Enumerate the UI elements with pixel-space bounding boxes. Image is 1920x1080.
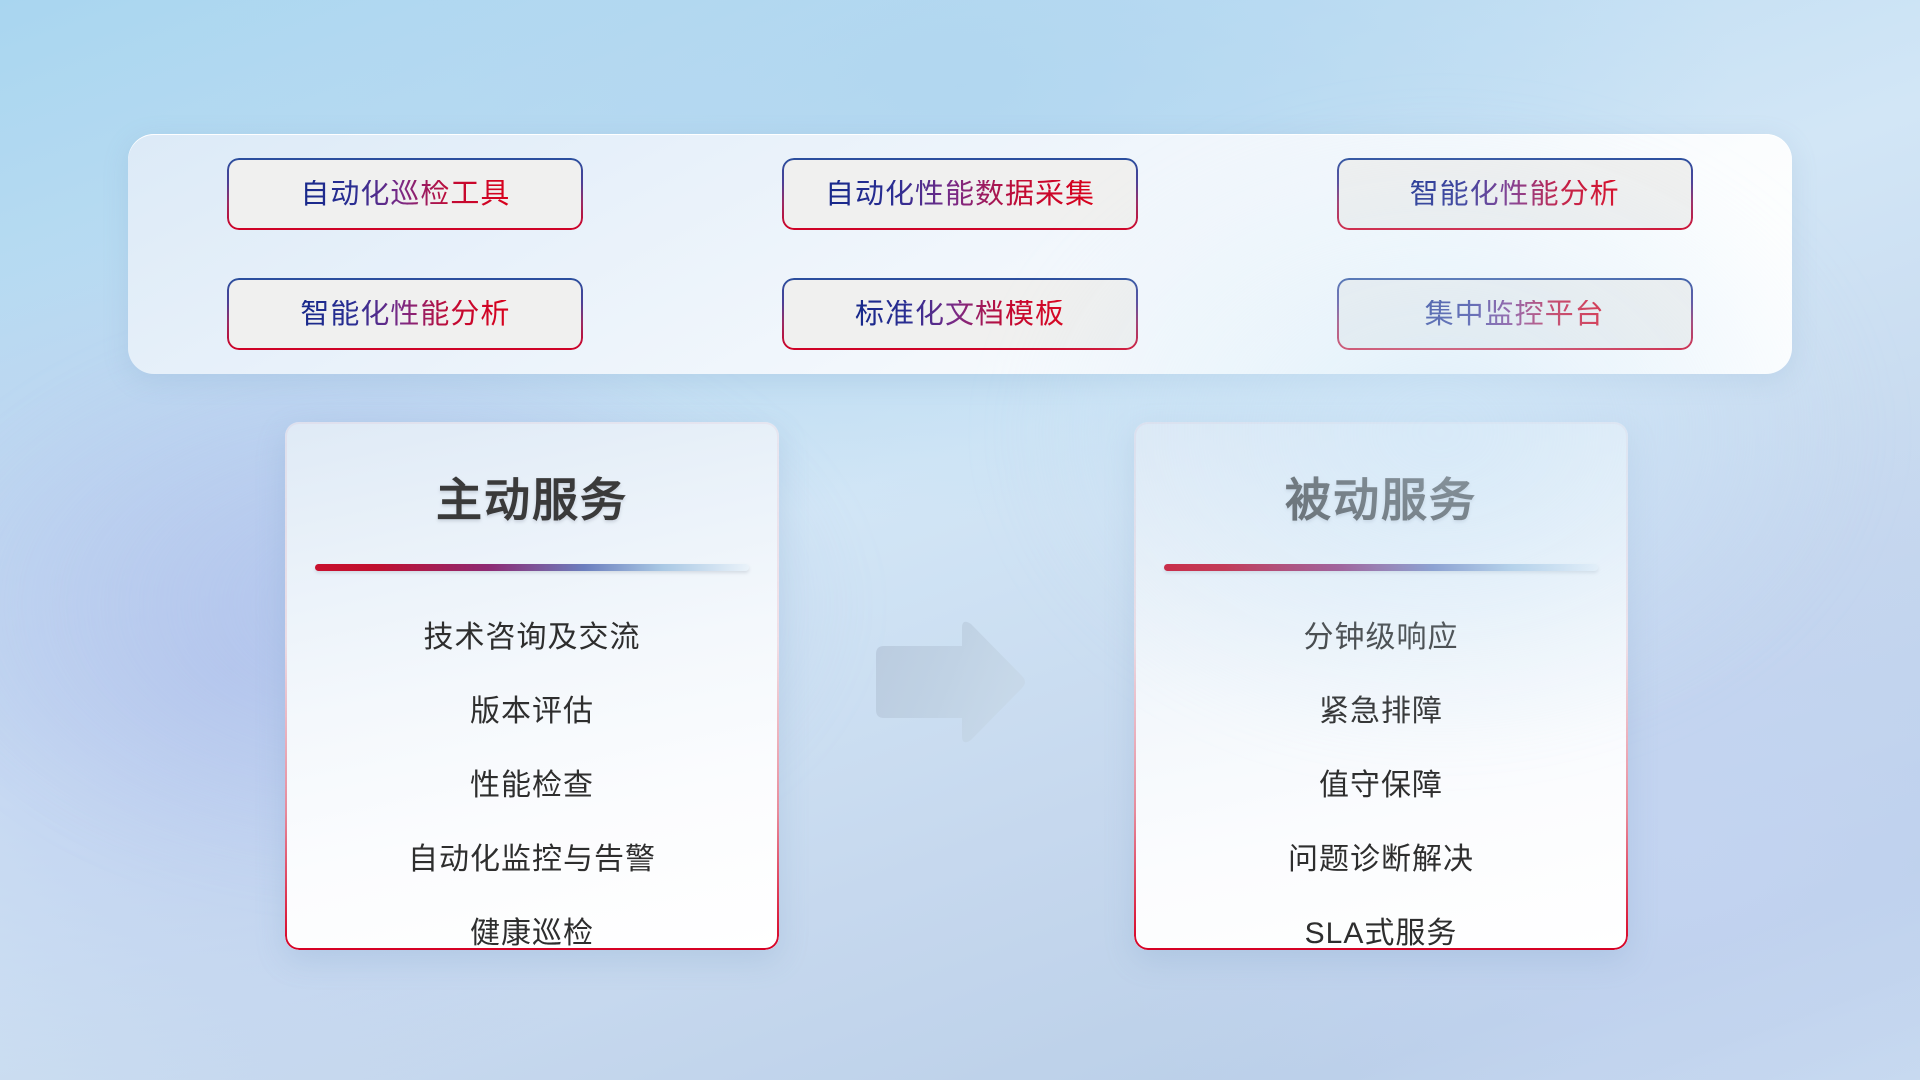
service-list-passive: 分钟级响应 紧急排障 值守保障 问题诊断解决 SLA式服务 [1134,571,1628,950]
capability-pill-1[interactable]: 自动化巡检工具 [227,158,583,230]
capability-pill-label: 智能化性能分析 [1410,180,1620,209]
capability-pill-label: 集中监控平台 [1425,300,1605,329]
capability-pill-4[interactable]: 智能化性能分析 [227,278,583,350]
list-item[interactable]: 分钟级响应 [1134,601,1628,675]
list-item[interactable]: 技术咨询及交流 [285,601,779,675]
list-item[interactable]: 值守保障 [1134,749,1628,823]
card-title-active: 主动服务 [285,422,779,530]
capability-panel: 自动化巡检工具 自动化性能数据采集 智能化性能分析 智能化性能分析 标准化文档模… [128,134,1792,374]
capability-pill-3[interactable]: 智能化性能分析 [1337,158,1693,230]
card-title-passive: 被动服务 [1134,422,1628,530]
capability-pill-label: 自动化巡检工具 [300,180,510,209]
capability-pill-2[interactable]: 自动化性能数据采集 [782,158,1138,230]
list-item[interactable]: 版本评估 [285,675,779,749]
slide-canvas: 自动化巡检工具 自动化性能数据采集 智能化性能分析 智能化性能分析 标准化文档模… [0,0,1920,1080]
list-item[interactable]: 紧急排障 [1134,675,1628,749]
capability-pill-5[interactable]: 标准化文档模板 [782,278,1138,350]
capability-pill-6[interactable]: 集中监控平台 [1337,278,1693,350]
list-item[interactable]: 性能检查 [285,749,779,823]
list-item[interactable]: 自动化监控与告警 [285,823,779,897]
card-divider [315,564,749,571]
list-item[interactable]: 健康巡检 [285,897,779,950]
capability-pill-label: 自动化性能数据采集 [825,180,1095,209]
card-divider [1164,564,1598,571]
service-card-passive[interactable]: 被动服务 分钟级响应 紧急排障 值守保障 问题诊断解决 SLA式服务 [1134,422,1628,950]
capability-pill-label: 标准化文档模板 [855,300,1065,329]
service-card-active[interactable]: 主动服务 技术咨询及交流 版本评估 性能检查 自动化监控与告警 健康巡检 [285,422,779,950]
service-list-active: 技术咨询及交流 版本评估 性能检查 自动化监控与告警 健康巡检 [285,571,779,950]
list-item[interactable]: 问题诊断解决 [1134,823,1628,897]
list-item[interactable]: SLA式服务 [1134,897,1628,950]
capability-pill-label: 智能化性能分析 [300,300,510,329]
right-arrow-icon [870,618,1028,746]
